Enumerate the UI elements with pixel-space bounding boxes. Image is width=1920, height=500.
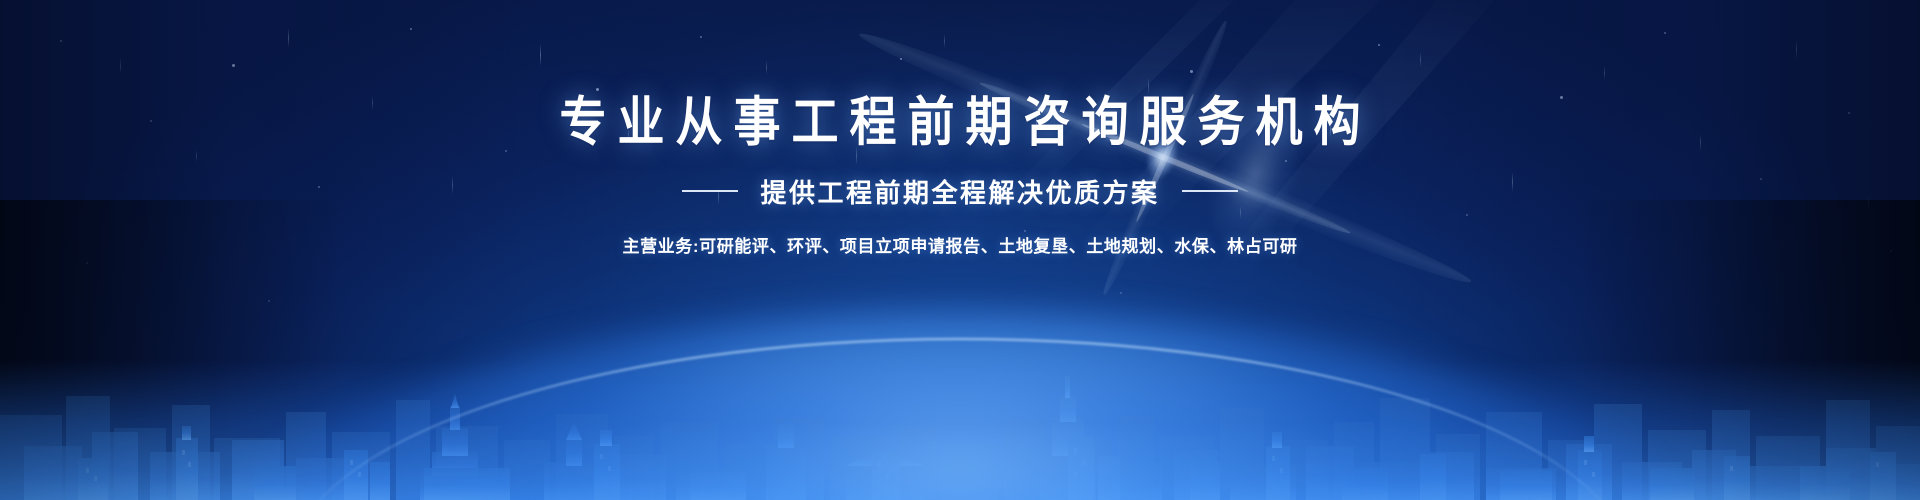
banner-content: 专业从事工程前期咨询服务机构 提供工程前期全程解决优质方案 主营业务:可研能评、… bbox=[0, 96, 1920, 257]
business-scope-text: 主营业务:可研能评、环评、项目立项申请报告、土地复垦、土地规划、水保、林占可研 bbox=[0, 232, 1920, 257]
subtitle: 提供工程前期全程解决优质方案 bbox=[760, 173, 1159, 210]
rule-left-icon bbox=[682, 190, 738, 192]
bottom-haze bbox=[0, 360, 1920, 500]
subtitle-row: 提供工程前期全程解决优质方案 bbox=[0, 173, 1920, 210]
hero-banner: 专业从事工程前期咨询服务机构 提供工程前期全程解决优质方案 主营业务:可研能评、… bbox=[0, 0, 1920, 500]
page-title: 专业从事工程前期咨询服务机构 bbox=[0, 93, 1920, 152]
rule-right-icon bbox=[1182, 190, 1238, 192]
